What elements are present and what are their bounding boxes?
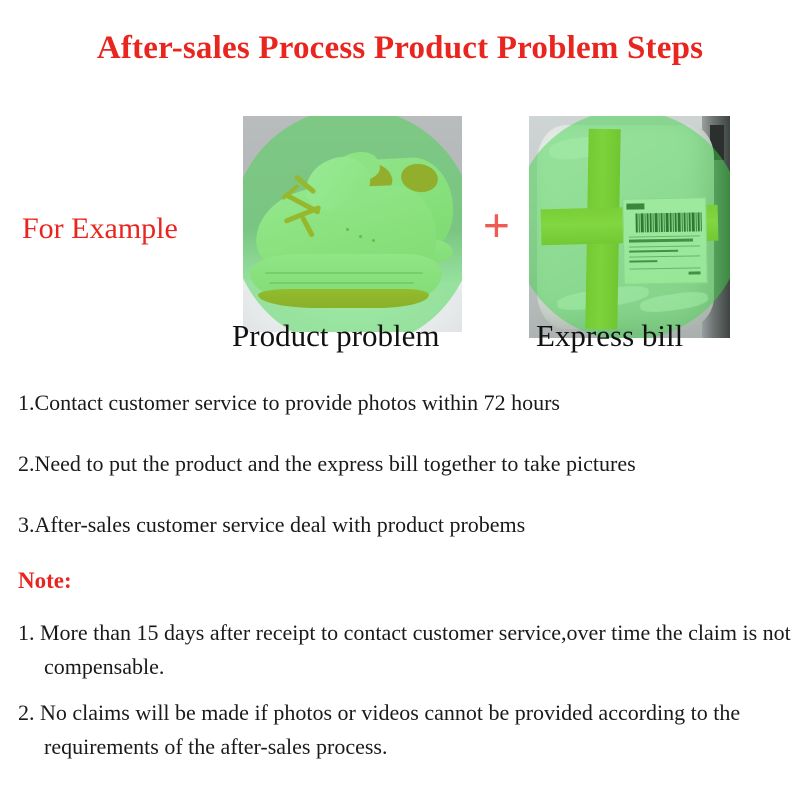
label-text-block — [630, 260, 658, 263]
plus-icon: + — [483, 202, 510, 248]
step-item: 1.Contact customer service to provide ph… — [18, 390, 788, 416]
sneakers-photo-content — [243, 116, 462, 332]
label-divider — [630, 268, 701, 270]
express-bill-photo — [529, 116, 730, 338]
sole-ridge — [265, 272, 423, 274]
label-header-bar — [627, 204, 645, 210]
for-example-label: For Example — [22, 212, 178, 246]
page-title: After-sales Process Product Problem Step… — [0, 30, 800, 67]
label-divider — [630, 256, 701, 258]
label-divider — [630, 246, 701, 248]
express-bill-caption: Express bill — [536, 320, 683, 351]
product-problem-caption: Product problem — [232, 320, 440, 351]
note-heading: Note: — [18, 568, 72, 594]
product-problem-photo — [243, 116, 462, 332]
steps-list: 1.Contact customer service to provide ph… — [18, 390, 788, 573]
step-item: 3.After-sales customer service deal with… — [18, 512, 788, 538]
step-item: 2.Need to put the product and the expres… — [18, 451, 788, 477]
note-list: 1. More than 15 days after receipt to co… — [18, 616, 793, 776]
parcel-photo-content — [529, 116, 730, 338]
label-text-block — [630, 250, 679, 253]
note-item: 1. More than 15 days after receipt to co… — [18, 616, 793, 684]
after-sales-process-infographic: After-sales Process Product Problem Step… — [0, 0, 800, 800]
sneaker-front-outsole — [258, 289, 429, 308]
lace-strand — [299, 215, 314, 238]
sole-ridge — [269, 282, 414, 284]
barcode — [636, 213, 691, 232]
sneaker-laces — [278, 179, 366, 252]
shipping-label — [623, 197, 709, 285]
note-item: 2. No claims will be made if photos or v… — [18, 696, 793, 764]
label-text-block — [629, 239, 693, 243]
label-text-block — [689, 271, 701, 275]
example-row: For Example — [0, 108, 800, 338]
label-divider — [629, 236, 700, 238]
eyelet — [359, 235, 362, 238]
